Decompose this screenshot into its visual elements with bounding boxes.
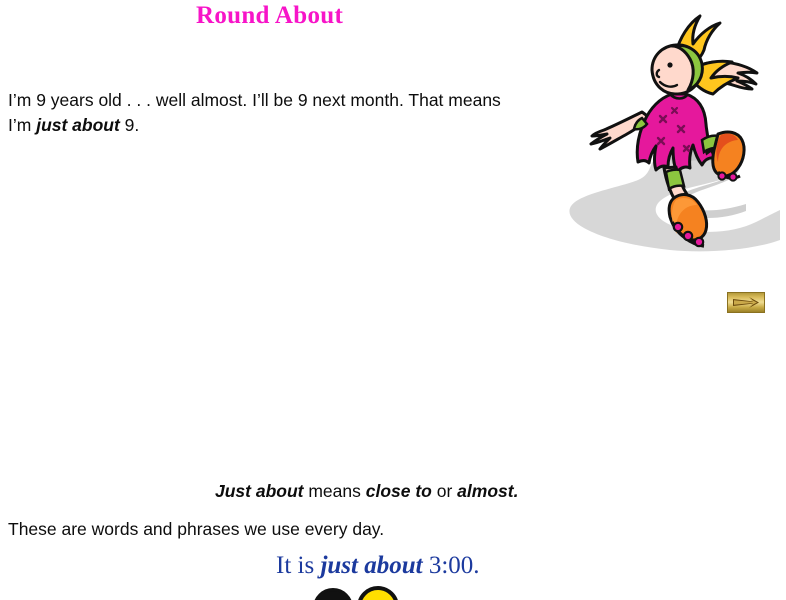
girl-rollerblading-illustration xyxy=(560,8,786,260)
page-title: Round About xyxy=(196,2,343,30)
definition-connector-2: or xyxy=(432,481,457,501)
intro-emphasis-just-about: just about xyxy=(36,115,120,135)
everyday-usage-line: These are words and phrases we use every… xyxy=(8,519,384,540)
clock-face-dark xyxy=(313,588,353,600)
definition-synonym-1: close to xyxy=(366,481,432,501)
definition-line: Just about means close to or almost. xyxy=(215,481,518,502)
next-page-button[interactable] xyxy=(727,292,765,313)
definition-synonym-2: almost. xyxy=(457,481,518,501)
page-canvas: Round About I’m 9 years old . . . well a… xyxy=(0,0,786,600)
definition-connector-1: means xyxy=(303,481,365,501)
example-text-part-2: 3:00. xyxy=(423,552,480,579)
intro-paragraph: I’m 9 years old . . . well almost. I’ll … xyxy=(8,88,528,138)
definition-term: Just about xyxy=(215,481,303,501)
example-emphasis-just-about: just about xyxy=(320,552,422,579)
example-text-part-1: It is xyxy=(276,552,320,579)
next-arrow-icon xyxy=(728,293,764,312)
intro-text-part-2: 9. xyxy=(120,115,139,135)
clock-face-yellow xyxy=(357,586,399,600)
head xyxy=(652,45,702,94)
example-sentence: It is just about 3:00. xyxy=(276,552,480,580)
dress xyxy=(634,94,715,172)
